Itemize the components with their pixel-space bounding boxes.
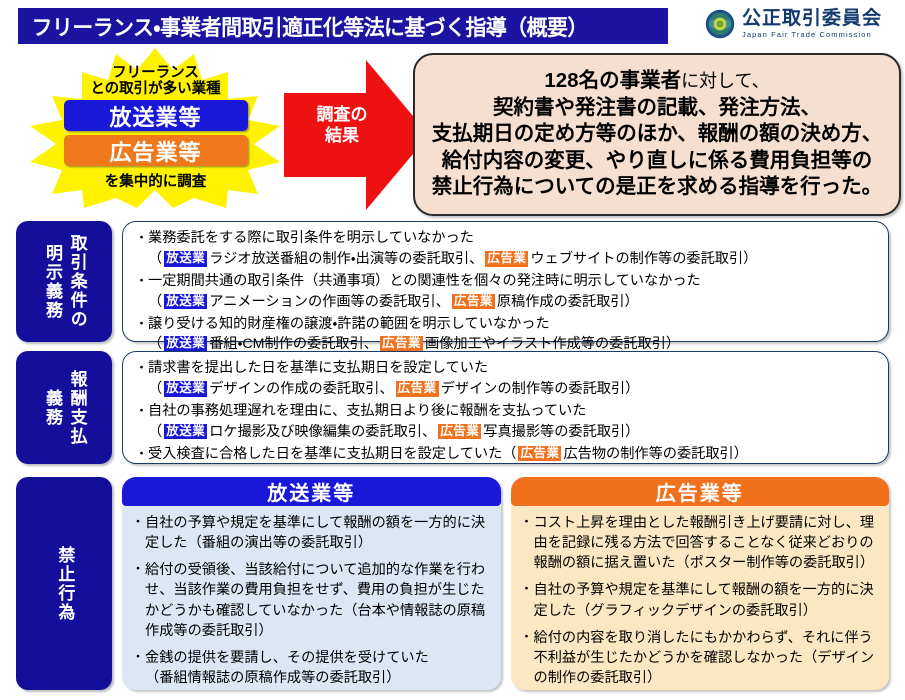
inline-text: （ xyxy=(148,336,162,352)
prohibited-column-header-broadcast: 放送業等 xyxy=(122,477,501,506)
prohibited-column-header-advertising: 広告業等 xyxy=(511,477,890,506)
bullet-text: 一定期間共通の取引条件（共通事項）との関連性を個々の発注時に明示していなかった xyxy=(148,272,878,292)
inline-text: 広告物の制作等の委託取引） xyxy=(563,446,747,462)
arrow-label-line1: 調査の xyxy=(317,105,368,124)
prohibited-column-body-advertising: ・コスト上昇を理由とした報酬引き上げ要請に対し、理由を記録に残る方法で回答するこ… xyxy=(511,506,890,690)
bullet-text: 業務委託をする際に取引条件を明示していなかった xyxy=(148,229,878,249)
inline-text: 画像加工やイラスト作成等の委託取引） xyxy=(425,336,680,352)
list-item: ・給付の内容を取り消したにもかかわらず、それに伴う不利益が生じたかどうかを確認し… xyxy=(520,628,881,688)
bullet-dot: ・ xyxy=(135,315,148,333)
bullet-item: ・自社の事務処理遅れを理由に、支払期日より後に報酬を支払っていた xyxy=(135,402,878,422)
list-item-text: 自社の予算や規定を基準にして報酬の額を一方的に決定した（番組の演出等の委託取引） xyxy=(145,513,492,553)
prohibited-column-body-broadcast: ・自社の予算や規定を基準にして報酬の額を一方的に決定した（番組の演出等の委託取引… xyxy=(122,506,501,690)
inline-text: 写真撮影等の委託取引） xyxy=(483,424,639,440)
inline-text: 番組・CM制作の委託取引、 xyxy=(209,336,378,352)
result-summary-box: 128名の事業者に対して、 契約書や発注書の記載、発注方法、 支払期日の定め方等… xyxy=(413,53,901,216)
bullet-text: 請求書を提出した日を基準に支払期日を設定していた xyxy=(148,359,878,379)
tag-broadcast: 放送業 xyxy=(164,294,207,310)
bullet-text: 受入検査に合格した日を基準に支払期日を設定していた（広告業広告物の制作等の委託取… xyxy=(148,445,878,465)
section-body-payment: ・請求書を提出した日を基準に支払期日を設定していた（放送業デザインの作成の委託取… xyxy=(122,351,889,464)
starburst-caption-line1: フリーランス xyxy=(112,65,199,81)
bullet-subtext: （放送業ラジオ放送番組の制作・出演等の委託取引、広告業ウェブサイトの制作等の委託… xyxy=(135,250,878,270)
header-title-bar: フリーランス・事業者間取引適正化等法に基づく指導（概要） xyxy=(18,8,668,44)
prohibited-columns: 放送業等 ・自社の予算や規定を基準にして報酬の額を一方的に決定した（番組の演出等… xyxy=(122,477,889,690)
jftc-name-en: Japan Fair Trade Commission xyxy=(742,31,882,39)
bullet-dot: ・ xyxy=(135,359,148,377)
section-prohibited-acts: 禁止行為 放送業等 ・自社の予算や規定を基準にして報酬の額を一方的に決定した（番… xyxy=(16,477,889,690)
bullet-dot: ・ xyxy=(131,560,145,578)
section-tab-label-prohibited: 禁止行為 xyxy=(52,546,77,622)
bullet-dot: ・ xyxy=(520,513,534,531)
tag-broadcast: 放送業 xyxy=(164,424,207,440)
bullet-subtext: （放送業アニメーションの作画等の委託取引、広告業原稿作成の委託取引） xyxy=(135,293,878,313)
list-item: ・給付の受領後、当該給付について追加的な作業を行わせ、当該作業の費用負担をせず、… xyxy=(131,560,492,641)
list-item: ・自社の予算や規定を基準にして報酬の額を一方的に決定した（番組の演出等の委託取引… xyxy=(131,513,492,553)
tag-advertising: 広告業 xyxy=(380,336,423,352)
bullet-dot: ・ xyxy=(135,402,148,420)
section-tab-payment: 報酬支払義務 xyxy=(16,351,112,464)
list-item-text: 自社の予算や規定を基準にして報酬の額を一方的に決定した（グラフィックデザインの委… xyxy=(534,580,881,620)
page-header: フリーランス・事業者間取引適正化等法に基づく指導（概要） 公正取引委員会 Jap… xyxy=(0,8,905,44)
bullet-subtext: （放送業デザインの作成の委託取引、広告業デザインの制作等の委託取引） xyxy=(135,380,878,400)
inline-text: 受入検査に合格した日を基準に支払期日を設定していた（ xyxy=(148,446,516,462)
section-tab-label-payment: 報酬支払義務 xyxy=(39,370,88,446)
inline-text: ロケ撮影及び映像編集の委託取引、 xyxy=(209,424,436,440)
bullet-dot: ・ xyxy=(131,513,145,531)
list-item: ・自社の予算や規定を基準にして報酬の額を一方的に決定した（グラフィックデザインの… xyxy=(520,580,881,620)
jftc-name-jp: 公正取引委員会 xyxy=(742,9,882,28)
survey-result-arrow: 調査の 結果 xyxy=(284,60,429,210)
bullet-item: ・一定期間共通の取引条件（共通事項）との関連性を個々の発注時に明示していなかった xyxy=(135,272,878,292)
result-line-4: 給付内容の変更、やり直しに係る費用負担等の xyxy=(432,148,883,175)
inline-text: デザインの作成の委託取引、 xyxy=(209,381,393,397)
bullet-item: ・受入検査に合格した日を基準に支払期日を設定していた（広告業広告物の制作等の委託… xyxy=(135,445,878,465)
bullet-subtext: （放送業ロケ撮影及び映像編集の委託取引、広告業写真撮影等の委託取引） xyxy=(135,423,878,443)
infographic-page: フリーランス・事業者間取引適正化等法に基づく指導（概要） 公正取引委員会 Jap… xyxy=(0,0,905,700)
inline-text: ウェブサイトの制作等の委託取引） xyxy=(530,251,757,267)
result-line-3: 支払期日の定め方等のほか、報酬の額の決め方、 xyxy=(432,121,883,148)
bullet-text: 譲り受ける知的財産権の譲渡・許諾の範囲を明示していなかった xyxy=(148,315,878,335)
bullet-text: 自社の事務処理遅れを理由に、支払期日より後に報酬を支払っていた xyxy=(148,402,878,422)
bullet-dot: ・ xyxy=(520,628,534,646)
inline-text: アニメーションの作画等の委託取引、 xyxy=(209,294,450,310)
inline-text: （ xyxy=(148,424,162,440)
industry-chip-advertising: 広告業等 xyxy=(64,135,248,166)
survey-target-starburst: フリーランス との取引が多い業種 放送業等 広告業等 を集中的に調査 xyxy=(18,48,293,208)
result-summary-text: 128名の事業者に対して、 契約書や発注書の記載、発注方法、 支払期日の定め方等… xyxy=(424,68,891,201)
tag-advertising: 広告業 xyxy=(518,446,561,462)
tag-advertising: 広告業 xyxy=(438,424,481,440)
result-line-2: 契約書や発注書の記載、発注方法、 xyxy=(432,95,883,122)
result-line-1: 128名の事業者に対して、 xyxy=(432,68,883,95)
section-body-disclosure: ・業務委託をする際に取引条件を明示していなかった（放送業ラジオ放送番組の制作・出… xyxy=(122,221,889,342)
inline-text: （ xyxy=(148,294,162,310)
section-tab-prohibited: 禁止行為 xyxy=(16,477,112,690)
list-item-text: 給付の内容を取り消したにもかかわらず、それに伴う不利益が生じたかどうかを確認しな… xyxy=(534,628,881,688)
inline-text: デザインの制作等の委託取引） xyxy=(441,381,640,397)
industry-chip-broadcast: 放送業等 xyxy=(64,100,248,131)
starburst-caption-line2: との取引が多い業種 xyxy=(90,81,220,97)
bullet-item: ・業務委託をする際に取引条件を明示していなかった xyxy=(135,229,878,249)
tag-broadcast: 放送業 xyxy=(164,381,207,397)
tag-advertising: 広告業 xyxy=(396,381,439,397)
list-item-text: コスト上昇を理由とした報酬引き上げ要請に対し、理由を記録に残る方法で回答すること… xyxy=(534,513,881,573)
tag-broadcast: 放送業 xyxy=(164,336,207,352)
bullet-dot: ・ xyxy=(135,272,148,290)
page-title: フリーランス・事業者間取引適正化等法に基づく指導（概要） xyxy=(18,11,588,42)
tag-broadcast: 放送業 xyxy=(164,251,207,267)
bullet-dot: ・ xyxy=(135,445,148,463)
section-payment-obligation: 報酬支払義務 ・請求書を提出した日を基準に支払期日を設定していた（放送業デザイン… xyxy=(16,351,889,464)
inline-text: （ xyxy=(148,381,162,397)
bullet-dot: ・ xyxy=(520,580,534,598)
starburst-footer-caption: を集中的に調査 xyxy=(105,170,207,191)
arrow-label-line2: 結果 xyxy=(325,126,359,145)
tag-advertising: 広告業 xyxy=(452,294,495,310)
inline-text: ラジオ放送番組の制作・出演等の委託取引、 xyxy=(209,251,483,267)
arrow-label: 調査の 結果 xyxy=(296,104,388,147)
list-item-text: 金銭の提供を要請し、その提供を受けていた（番組情報誌の原稿作成等の委託取引） xyxy=(145,648,492,688)
tag-advertising: 広告業 xyxy=(485,251,528,267)
jftc-logo-text: 公正取引委員会 Japan Fair Trade Commission xyxy=(742,9,882,39)
jftc-logo: 公正取引委員会 Japan Fair Trade Commission xyxy=(705,9,882,39)
list-item-text: 給付の受領後、当該給付について追加的な作業を行わせ、当該作業の費用負担をせず、費… xyxy=(145,560,492,641)
inline-text: （ xyxy=(148,251,162,267)
section-tab-disclosure: 取引条件の明示義務 xyxy=(16,221,112,342)
section-disclosure-obligation: 取引条件の明示義務 ・業務委託をする際に取引条件を明示していなかった（放送業ラジ… xyxy=(16,221,889,342)
bullet-item: ・請求書を提出した日を基準に支払期日を設定していた xyxy=(135,359,878,379)
section-tab-label-disclosure: 取引条件の明示義務 xyxy=(39,234,88,329)
jftc-emblem-icon xyxy=(705,9,735,39)
prohibited-column-broadcast: 放送業等 ・自社の予算や規定を基準にして報酬の額を一方的に決定した（番組の演出等… xyxy=(122,477,501,690)
bullet-dot: ・ xyxy=(135,229,148,247)
result-line-5: 禁止行為についての是正を求める指導を行った。 xyxy=(432,174,883,201)
list-item: ・コスト上昇を理由とした報酬引き上げ要請に対し、理由を記録に残る方法で回答するこ… xyxy=(520,513,881,573)
bullet-dot: ・ xyxy=(131,648,145,666)
inline-text: 原稿作成の委託取引） xyxy=(497,294,639,310)
bullet-item: ・譲り受ける知的財産権の譲渡・許諾の範囲を明示していなかった xyxy=(135,315,878,335)
prohibited-column-advertising: 広告業等 ・コスト上昇を理由とした報酬引き上げ要請に対し、理由を記録に残る方法で… xyxy=(511,477,890,690)
list-item: ・金銭の提供を要請し、その提供を受けていた（番組情報誌の原稿作成等の委託取引） xyxy=(131,648,492,688)
